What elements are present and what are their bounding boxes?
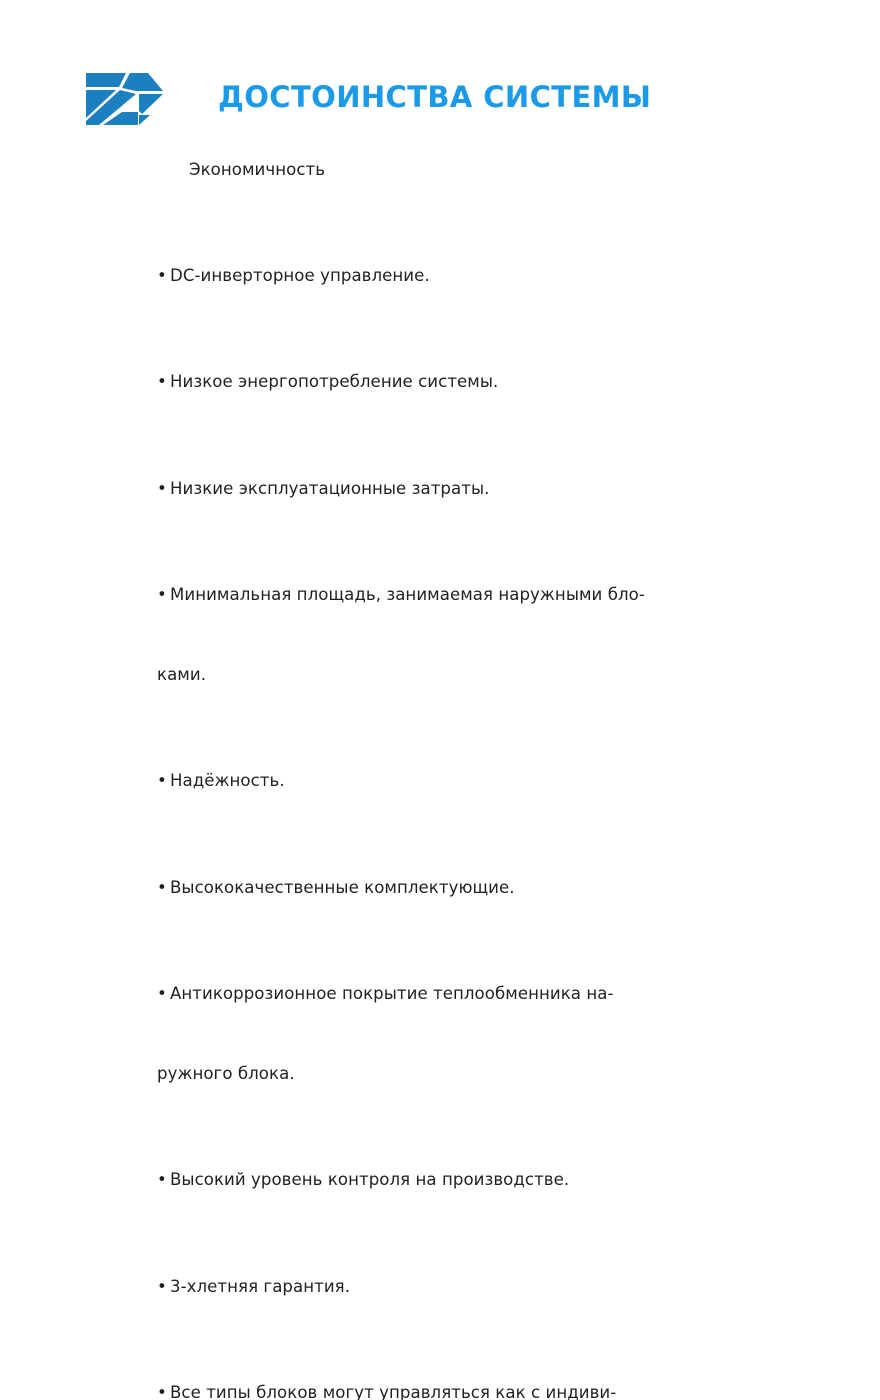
list-item-continuation: ками. (157, 662, 717, 689)
list-item: •Минимальная площадь, занимаемая наружны… (157, 582, 717, 609)
list-item-label: Высокий уровень контроля на производстве… (170, 1170, 569, 1189)
bullet-icon: • (157, 476, 170, 503)
slide-root: ДОСТОИНСТВА СИСТЕМЫ Экономичность •DC-ин… (0, 0, 880, 700)
page-title: ДОСТОИНСТВА СИСТЕМЫ (218, 82, 651, 114)
bullet-icon: • (157, 369, 170, 396)
list-item-label: Антикоррозионное покрытие теплообменника… (170, 984, 613, 1003)
list-item: •Надёжность. (157, 768, 717, 795)
bullet-icon: • (157, 875, 170, 902)
list-item-continuation: ружного блока. (157, 1061, 717, 1088)
bullet-icon: • (157, 981, 170, 1008)
list-item: •Низкое энергопотребление системы. (157, 369, 717, 396)
list-item-label: Минимальная площадь, занимаемая наружным… (170, 585, 645, 604)
list-item-label: Надёжность. (170, 771, 285, 790)
list-item: •Высокий уровень контроля на производств… (157, 1167, 717, 1194)
list-item-label: DC-инверторное управление. (170, 266, 430, 285)
list-item-label: 3-хлетняя гарантия. (170, 1277, 350, 1296)
list-item: •3-хлетняя гарантия. (157, 1274, 717, 1301)
list-item: •Все типы блоков могут управляться как с… (157, 1380, 717, 1400)
company-logo-icon (86, 71, 164, 127)
bullet-icon: • (157, 1380, 170, 1400)
list-item-label: Низкие эксплуатационные затраты. (170, 479, 489, 498)
list-item: •Высококачественные комплектующие. (157, 875, 717, 902)
list-item: •DC-инверторное управление. (157, 263, 717, 290)
list-item-label: Все типы блоков могут управляться как с … (170, 1383, 616, 1400)
bullet-icon: • (157, 582, 170, 609)
list-lead-label: Экономичность (189, 160, 325, 179)
list-item-label: Низкое энергопотребление системы. (170, 372, 498, 391)
list-item-label: Высококачественные комплектующие. (170, 878, 515, 897)
list-item: •Антикоррозионное покрытие теплообменник… (157, 981, 717, 1008)
slide-header: ДОСТОИНСТВА СИСТЕМЫ (0, 0, 880, 132)
bullet-icon: • (157, 1274, 170, 1301)
advantages-list: Экономичность •DC-инверторное управление… (157, 130, 717, 1400)
advantages-text-block: Экономичность •DC-инверторное управление… (157, 130, 717, 1400)
bullet-icon: • (157, 1167, 170, 1194)
bullet-icon: • (157, 263, 170, 290)
bullet-icon: • (157, 768, 170, 795)
list-item: •Низкие эксплуатационные затраты. (157, 476, 717, 503)
